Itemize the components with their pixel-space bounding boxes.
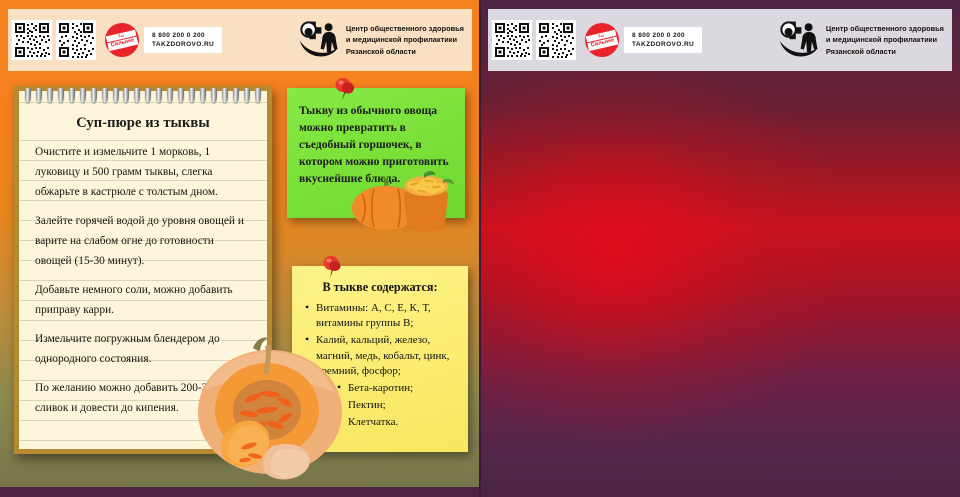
organization-block: Центр общественного здоровья и медицинск…	[778, 20, 944, 60]
hotline-block[interactable]: Ты Сильнее 8 800 200 0 200 TAKZDOROVO.RU	[585, 23, 702, 57]
sticky-note-title: В тыкве содержатся:	[304, 280, 456, 295]
hotline-site: TAKZDOROVO.RU	[632, 40, 694, 49]
qr-group-right: Ты Сильнее 8 800 200 0 200 TAKZDOROVO.RU	[492, 20, 702, 60]
nutrient-item: Пектин;	[304, 398, 456, 413]
spiral-ring-icon	[134, 88, 140, 103]
spiral-ring-icon	[123, 88, 129, 103]
spiral-ring-icon	[156, 88, 162, 103]
panel-cranberry: Ты Сильнее 8 800 200 0 200 TAKZDOROVO.RU	[480, 0, 960, 497]
spiral-ring-icon	[167, 88, 173, 103]
hotline-text: 8 800 200 0 200 TAKZDOROVO.RU	[144, 27, 222, 54]
sticky-note-pumpkin-nutrients: В тыкве содержатся: Витамины: А, С, Е, К…	[292, 266, 468, 452]
recipe-step: Измельчите погружным блендером до одноро…	[35, 329, 251, 369]
hotline-block[interactable]: Ты Сильнее 8 800 200 0 200 TAKZDOROVO.RU	[105, 23, 222, 57]
recipe-title: Суп-пюре из тыквы	[35, 115, 251, 132]
spiral-ring-icon	[80, 88, 86, 103]
spiral-ring-icon	[113, 88, 119, 103]
spiral-ring-icon	[102, 88, 108, 103]
hotline-text: 8 800 200 0 200 TAKZDOROVO.RU	[624, 27, 702, 54]
header-bar-right: Ты Сильнее 8 800 200 0 200 TAKZDOROVO.RU	[488, 9, 952, 71]
organization-name: Центр общественного здоровья и медицинск…	[346, 23, 464, 56]
spiral-ring-icon	[255, 88, 261, 103]
organization-block: Центр общественного здоровья и медицинск…	[298, 20, 464, 60]
spiral-ring-icon	[244, 88, 250, 103]
qr-group-left: Ты Сильнее 8 800 200 0 200 TAKZDOROVO.RU	[12, 20, 222, 60]
nutrient-list: Витамины: А, С, Е, К, Т, витамины группы…	[304, 301, 456, 431]
spiral-binding	[25, 88, 261, 104]
recipe-step: Очистите и измельчите 1 морковь, 1 луков…	[35, 142, 251, 202]
spiral-ring-icon	[69, 88, 75, 103]
nutrient-item: Бета-каротин;	[304, 381, 456, 396]
poster-root: Ты Сильнее 8 800 200 0 200 TAKZDOROVO.RU	[0, 0, 960, 497]
org-line-1: Центр общественного здоровья	[346, 23, 464, 34]
panel-divider	[479, 0, 481, 497]
recipe-step: По желанию можно добавить 200-300 мл сли…	[35, 378, 251, 418]
org-line-1: Центр общественного здоровья	[826, 23, 944, 34]
pushpin-icon	[321, 255, 343, 279]
health-center-logo-icon	[778, 20, 820, 60]
spiral-ring-icon	[189, 88, 195, 103]
organization-name: Центр общественного здоровья и медицинск…	[826, 23, 944, 56]
spiral-ring-icon	[200, 88, 206, 103]
qr-code-icon[interactable]	[492, 20, 532, 60]
spiral-ring-icon	[58, 88, 64, 103]
qr-code-icon[interactable]	[536, 20, 576, 60]
notepad-page: Суп-пюре из тыквы Очистите и измельчите …	[19, 91, 267, 449]
nutrient-item: Клетчатка.	[304, 415, 456, 430]
notepad-pumpkin-soup: Суп-пюре из тыквы Очистите и измельчите …	[14, 86, 272, 454]
spiral-ring-icon	[178, 88, 184, 103]
sticky-note-text: Тыкву из обычного овоща можно превратить…	[299, 102, 453, 187]
spiral-ring-icon	[25, 88, 31, 103]
spiral-ring-icon	[36, 88, 42, 103]
nutrient-item: Калий, кальций, железо, магний, медь, ко…	[304, 333, 456, 379]
header-bar-left: Ты Сильнее 8 800 200 0 200 TAKZDOROVO.RU	[8, 9, 472, 71]
org-line-3: Рязанской области	[826, 46, 944, 57]
spiral-ring-icon	[222, 88, 228, 103]
health-center-logo-icon	[298, 20, 340, 60]
recipe-step: Залейте горячей водой до уровня овощей и…	[35, 211, 251, 271]
spiral-ring-icon	[47, 88, 53, 103]
org-line-2: и медицинской профилактики	[346, 34, 464, 45]
qr-code-icon[interactable]	[12, 20, 52, 60]
org-line-2: и медицинской профилактики	[826, 34, 944, 45]
panel-pumpkin: Ты Сильнее 8 800 200 0 200 TAKZDOROVO.RU	[0, 0, 480, 497]
hotline-phone: 8 800 200 0 200	[152, 31, 214, 40]
qr-code-icon[interactable]	[56, 20, 96, 60]
takzdorovo-logo-icon: Ты Сильнее	[105, 23, 139, 57]
takzdorovo-logo-icon: Ты Сильнее	[585, 23, 619, 57]
hotline-site: TAKZDOROVO.RU	[152, 40, 214, 49]
hotline-phone: 8 800 200 0 200	[632, 31, 694, 40]
spiral-ring-icon	[233, 88, 239, 103]
pushpin-icon	[334, 77, 356, 101]
org-line-3: Рязанской области	[346, 46, 464, 57]
spiral-ring-icon	[145, 88, 151, 103]
sticky-note-pumpkin-tip: Тыкву из обычного овоща можно превратить…	[287, 88, 465, 218]
spiral-ring-icon	[211, 88, 217, 103]
spiral-ring-icon	[91, 88, 97, 103]
nutrient-item: Витамины: А, С, Е, К, Т, витамины группы…	[304, 301, 456, 331]
recipe-step: Добавьте немного соли, можно добавить пр…	[35, 280, 251, 320]
